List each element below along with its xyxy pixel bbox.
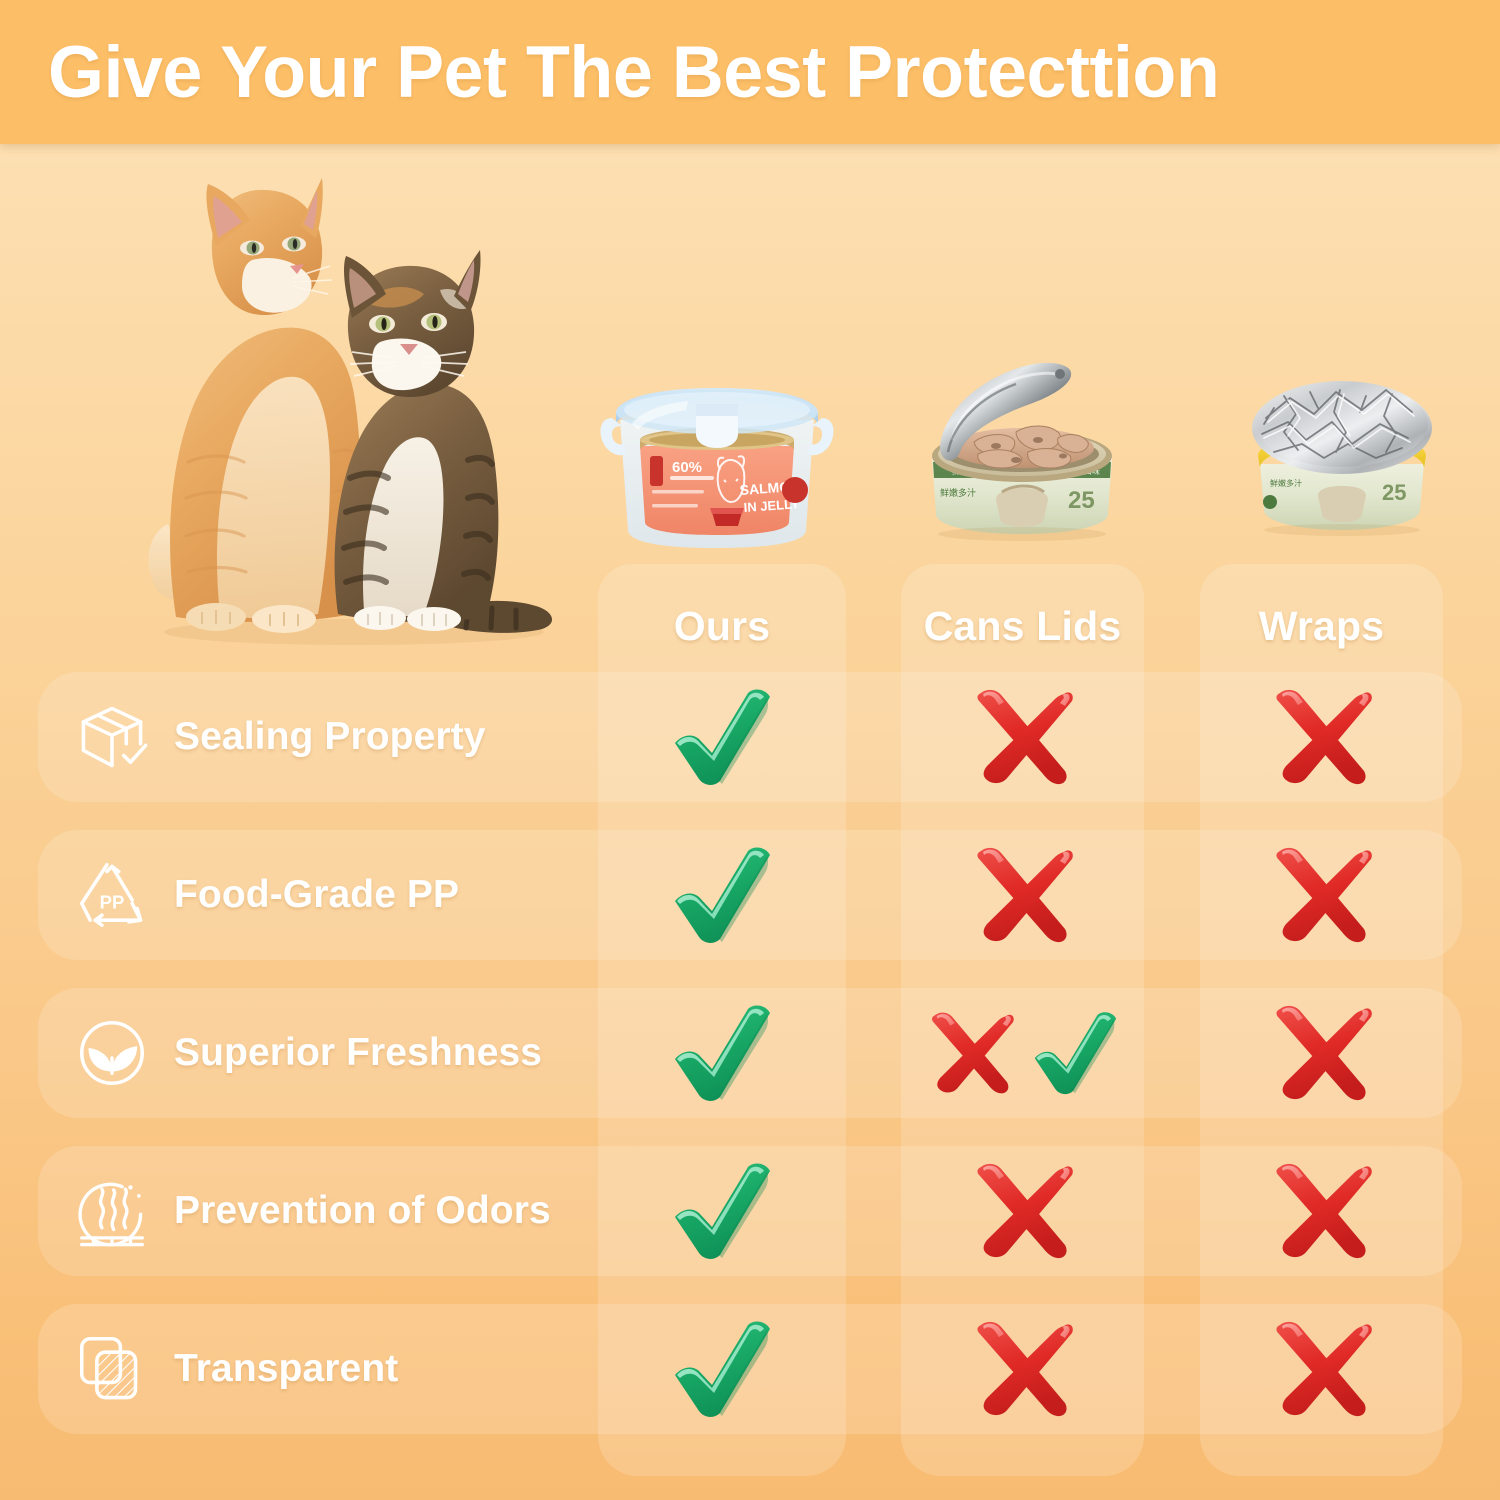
- product-photo-ours: 60% SALMON IN JELLY: [592, 362, 842, 558]
- mark-cell-transparent-cans: [901, 1304, 1144, 1434]
- mark-cell-food-grade-pp-wraps: [1200, 830, 1443, 960]
- two-cats-photo: [124, 162, 590, 646]
- cross-icon: [967, 1317, 1079, 1421]
- mark-cell-odors-cans: [901, 1146, 1144, 1276]
- feature-row-label: Prevention of Odors: [174, 1189, 551, 1233]
- cross-icon: [967, 1159, 1079, 1263]
- feature-row-label: Food-Grade PP: [174, 873, 459, 917]
- mark-cell-sealing-ours: [598, 672, 846, 802]
- mark-cell-odors-wraps: [1200, 1146, 1443, 1276]
- check-icon: [666, 843, 778, 947]
- check-icon: [666, 1001, 778, 1105]
- feature-row-label: Sealing Property: [174, 715, 486, 759]
- check-icon: [666, 685, 778, 789]
- cross-icon: [1266, 1159, 1378, 1263]
- mark-cell-transparent-wraps: [1200, 1304, 1443, 1434]
- page-title: Give Your Pet The Best Protecttion: [48, 36, 1219, 109]
- svg-text:PP: PP: [100, 891, 125, 912]
- box-check-icon: [66, 691, 158, 783]
- header-bar: Give Your Pet The Best Protecttion: [0, 0, 1500, 144]
- column-header-ours: Ours: [598, 596, 846, 656]
- cross-icon: [967, 843, 1079, 947]
- overlapping-squares-icon: [66, 1323, 158, 1415]
- cross-icon: [1266, 843, 1378, 947]
- cross-icon: [923, 1007, 1019, 1099]
- mark-cell-transparent-ours: [598, 1304, 846, 1434]
- odor-waves-circle-icon: [66, 1165, 158, 1257]
- pp-recycle-triangle-icon: PP: [66, 849, 158, 941]
- column-header-cans-lids: Cans Lids: [901, 596, 1144, 656]
- feature-row-food-grade-pp: PP Food-Grade PP: [38, 830, 598, 960]
- mark-cell-food-grade-pp-cans: [901, 830, 1144, 960]
- check-icon: [666, 1159, 778, 1263]
- svg-text:25: 25: [1068, 487, 1095, 514]
- svg-text:鲜嫩多汁: 鲜嫩多汁: [940, 487, 976, 498]
- leaf-circle-icon: [66, 1007, 158, 1099]
- feature-row-freshness: Superior Freshness: [38, 988, 598, 1118]
- feature-row-label: Superior Freshness: [174, 1031, 542, 1075]
- mark-cell-sealing-cans: [901, 672, 1144, 802]
- cross-icon: [967, 685, 1079, 789]
- mark-cell-freshness-wraps: [1200, 988, 1443, 1118]
- mark-cell-sealing-wraps: [1200, 672, 1443, 802]
- column-header-wraps: Wraps: [1200, 596, 1443, 656]
- feature-row-odors: Prevention of Odors: [38, 1146, 598, 1276]
- infographic-root: Give Your Pet The Best Protecttion: [0, 0, 1500, 1500]
- mark-cell-food-grade-pp-ours: [598, 830, 846, 960]
- check-icon: [1027, 1007, 1123, 1099]
- mark-cell-freshness-cans: [901, 988, 1144, 1118]
- mark-cell-odors-ours: [598, 1146, 846, 1276]
- cross-icon: [1266, 685, 1378, 789]
- svg-text:60%: 60%: [672, 459, 702, 476]
- feature-row-label: Transparent: [174, 1347, 398, 1391]
- mark-cell-freshness-ours: [598, 988, 846, 1118]
- svg-text:鲜嫩多汁: 鲜嫩多汁: [1270, 478, 1302, 488]
- product-photo-cans-lids: 鲜嫩多汁好口感 无添加不添加口味 鲜嫩多汁 25: [918, 342, 1126, 542]
- svg-text:25: 25: [1382, 480, 1406, 505]
- product-photo-wraps: 鲜嫩多汁 25: [1244, 352, 1440, 538]
- check-icon: [666, 1317, 778, 1421]
- cross-icon: [1266, 1317, 1378, 1421]
- feature-row-sealing: Sealing Property: [38, 672, 598, 802]
- cross-icon: [1266, 1001, 1378, 1105]
- feature-row-transparent: Transparent: [38, 1304, 598, 1434]
